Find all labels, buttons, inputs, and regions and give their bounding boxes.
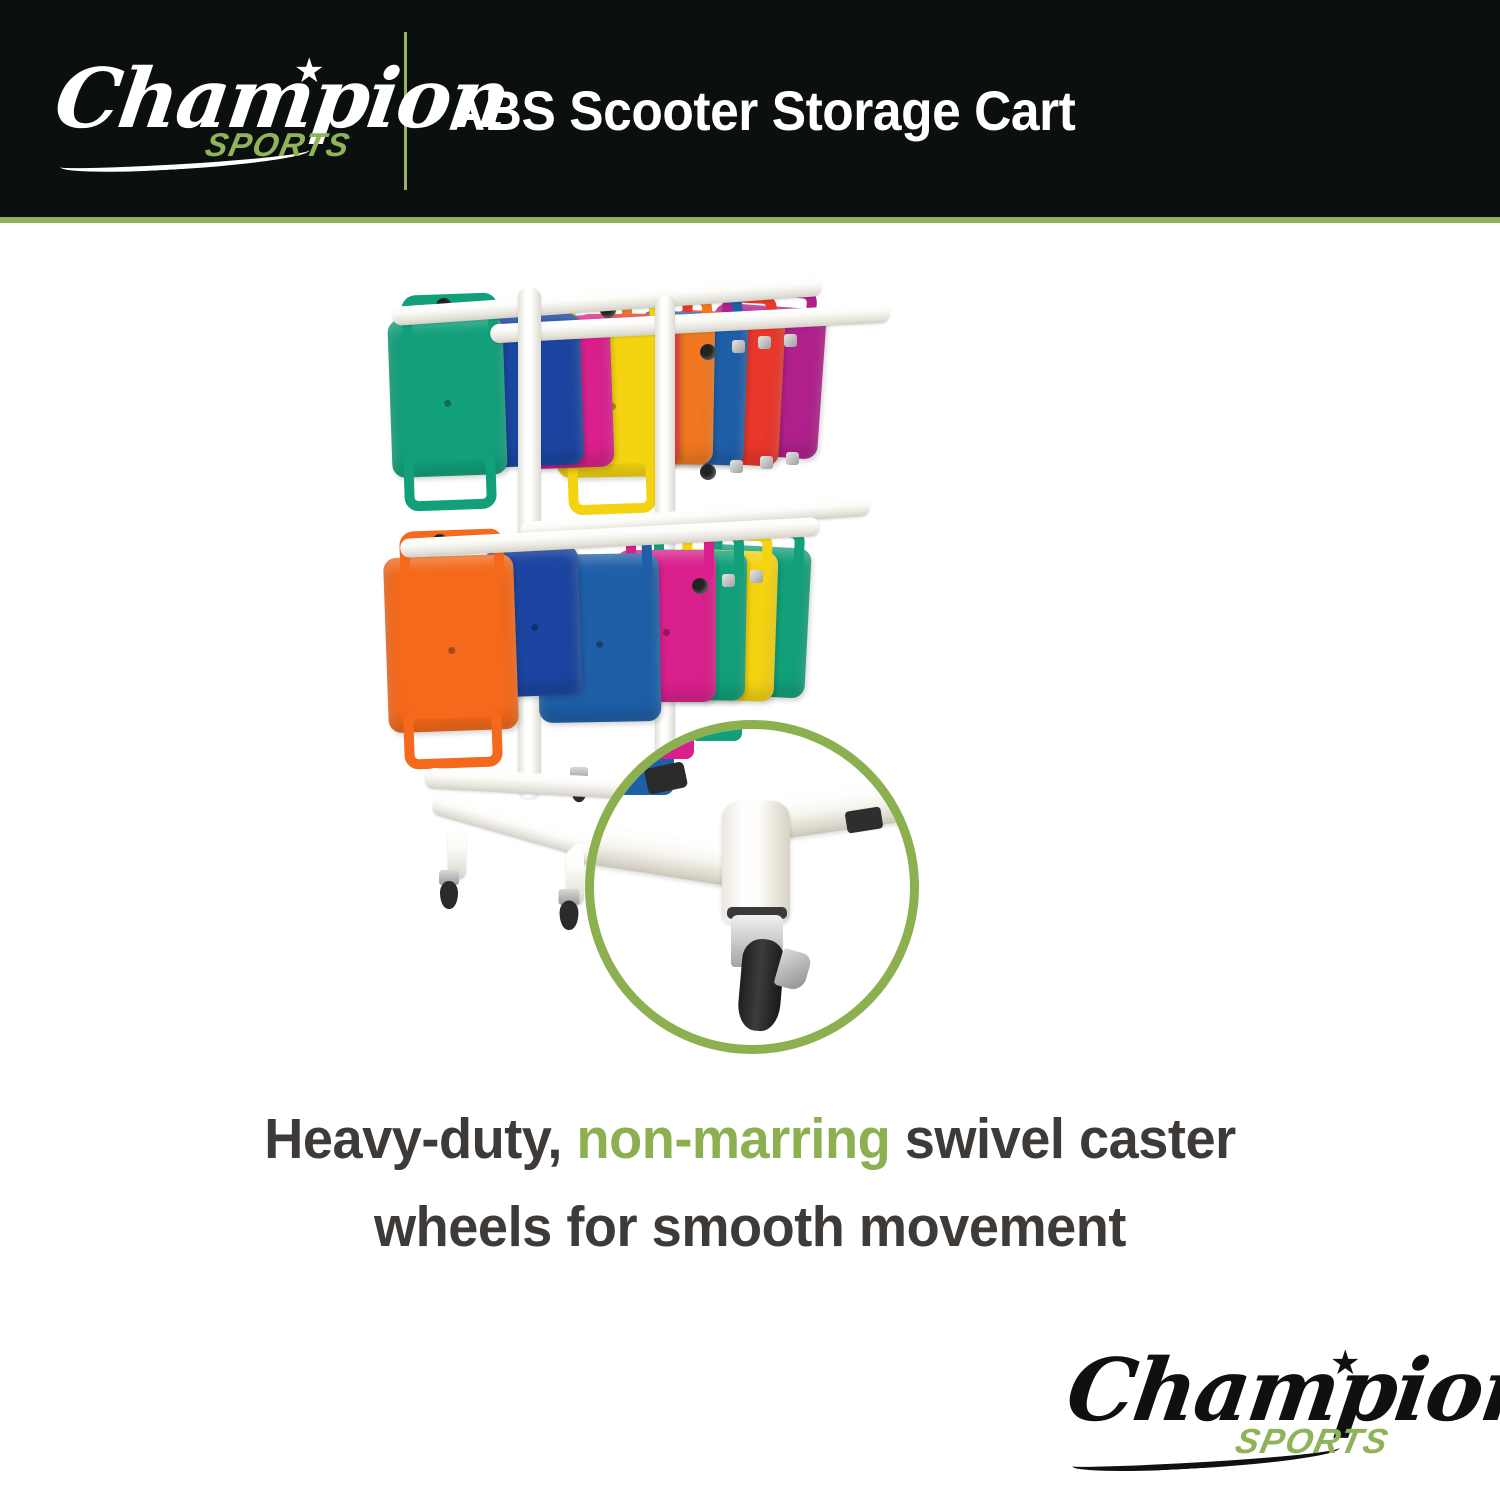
caster-bolt (786, 452, 799, 465)
caster-wheel (555, 889, 582, 931)
callout-pvc-end-cap (845, 806, 884, 833)
caster-tire (560, 901, 579, 930)
brand-logo-header: Champion ★ SPORTS (56, 52, 376, 170)
axle-knob (692, 578, 708, 594)
caster-bolt (758, 336, 771, 349)
caption-text-post: swivel caster (890, 1107, 1236, 1171)
caption-line-2: wheels for smooth movement (38, 1183, 1463, 1271)
brand-submark: SPORTS (202, 126, 354, 164)
brand-logo-footer: Champion ★ SPORTS (1068, 1342, 1448, 1472)
callout-content (594, 729, 910, 1045)
caption-highlight: non-marring (577, 1107, 891, 1171)
star-icon: ★ (1330, 1346, 1360, 1380)
star-icon: ★ (294, 54, 324, 88)
caster-bolt (732, 340, 745, 353)
axle-knob (700, 344, 716, 360)
product-marketing-image: Champion ★ SPORTS ABS Scooter Storage Ca… (0, 0, 1500, 1500)
axle-knob (700, 464, 716, 480)
caster-callout-circle (585, 720, 919, 1054)
callout-pvc-tee-joint (722, 801, 790, 923)
caster-bolt (730, 460, 743, 473)
caster-bolt (760, 456, 773, 469)
scooter-handle-lower (403, 706, 503, 769)
caster-bolt (722, 574, 735, 587)
brand-submark: SPORTS (1232, 1422, 1393, 1462)
caster-wheel (436, 870, 462, 910)
page-title: ABS Scooter Storage Cart (448, 78, 1276, 143)
feature-caption: Heavy-duty, non-marring swivel caster wh… (0, 1095, 1500, 1271)
scooter-handle-lower (403, 448, 497, 511)
caption-text-pre: Heavy-duty, (264, 1107, 576, 1171)
caster-bolt (750, 570, 763, 583)
caster-tire (440, 881, 458, 909)
caster-bolt (784, 334, 797, 347)
caption-line-1: Heavy-duty, non-marring swivel caster (38, 1095, 1463, 1183)
